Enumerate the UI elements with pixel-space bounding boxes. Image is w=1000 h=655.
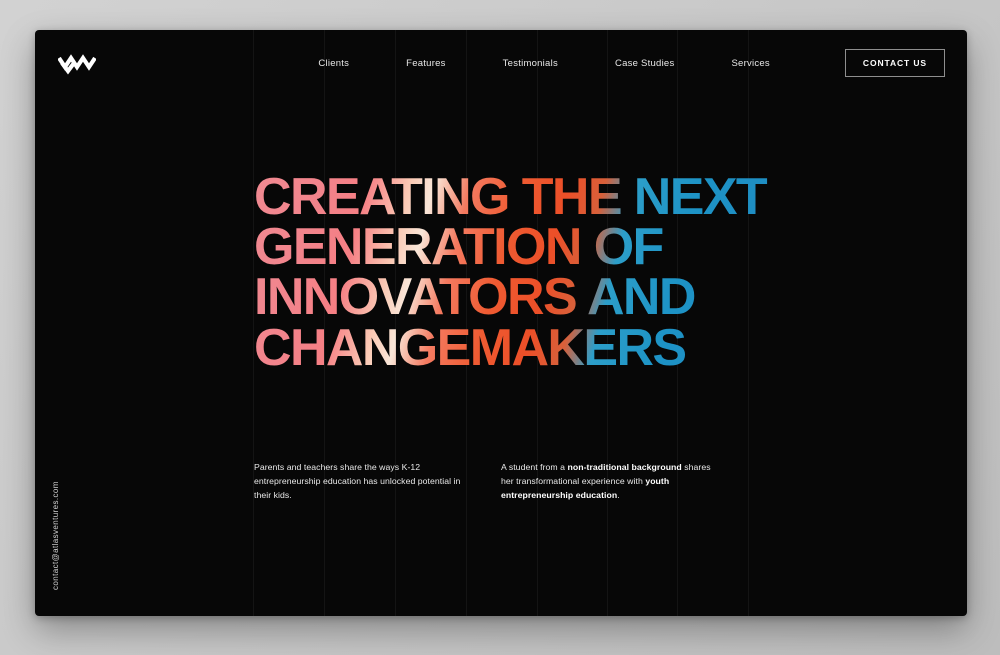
headline-line-4: CHANGEMAKERS	[254, 323, 814, 373]
website-hero-card: Clients Features Testimonials Case Studi…	[35, 30, 967, 616]
hero-headline: CREATING THE NEXT GENERATION OF INNOVATO…	[254, 172, 814, 373]
hero-copy-column-left: Parents and teachers share the ways K-12…	[254, 460, 472, 502]
site-header: Clients Features Testimonials Case Studi…	[35, 30, 967, 96]
headline-line-2: GENERATION OF	[254, 222, 814, 272]
contact-email-vertical[interactable]: contact@atlasventures.com	[51, 481, 60, 590]
zigzag-wave-logo-icon	[58, 51, 96, 75]
nav-item-case-studies[interactable]: Case Studies	[615, 52, 675, 75]
nav-item-features[interactable]: Features	[406, 52, 446, 75]
headline-line-1: CREATING THE NEXT	[254, 172, 814, 222]
hero-copy-column-right: A student from a non-traditional backgro…	[501, 460, 719, 502]
brand-logo-link[interactable]	[58, 50, 96, 76]
copy-text: Parents and teachers share the ways K-12…	[254, 462, 460, 500]
headline-seg-blue: MAKERS	[470, 319, 686, 377]
contact-us-button[interactable]: CONTACT US	[845, 49, 945, 77]
main-navigation: Clients Features Testimonials Case Studi…	[318, 49, 945, 77]
copy-text: A student from a	[501, 462, 568, 472]
copy-text: .	[617, 490, 619, 500]
hero-supporting-copy: Parents and teachers share the ways K-12…	[254, 460, 814, 502]
copy-emphasis: non-traditional background	[568, 462, 682, 472]
nav-item-testimonials[interactable]: Testimonials	[503, 52, 558, 75]
headline-seg-pink: CHANGE	[254, 319, 470, 377]
nav-item-services[interactable]: Services	[731, 52, 769, 75]
nav-item-clients[interactable]: Clients	[318, 52, 349, 75]
headline-line-3: INNOVATORS AND	[254, 272, 814, 322]
